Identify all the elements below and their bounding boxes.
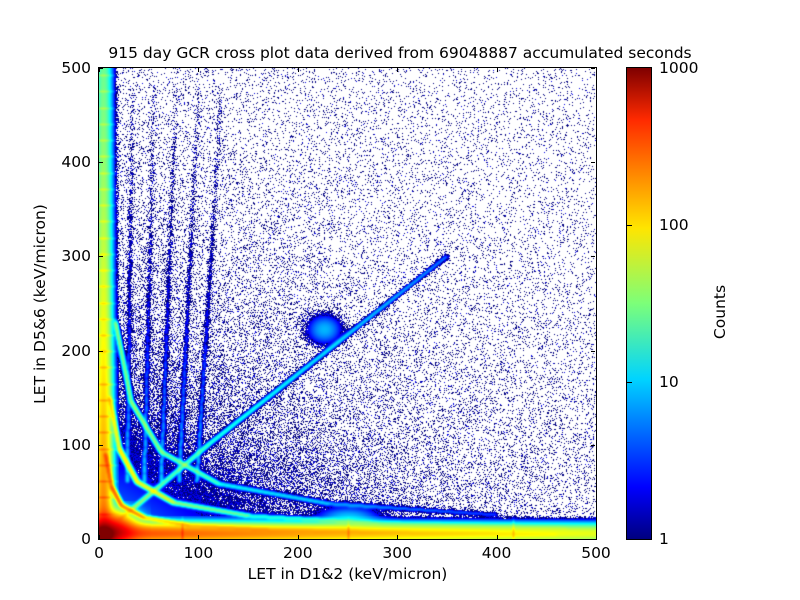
y-tick-right-0 [591, 539, 595, 540]
y-tick-400 [99, 162, 103, 163]
y-tick-label-500: 500 [61, 59, 91, 77]
colorbar-tick-10 [627, 382, 632, 383]
y-tick-0 [99, 539, 103, 540]
y-tick-label-400: 400 [61, 153, 91, 171]
x-tick-500 [596, 535, 597, 539]
x-tick-label-0: 0 [94, 544, 104, 562]
y-tick-label-0: 0 [81, 530, 91, 548]
colorbar-label: Counts [711, 212, 729, 412]
x-tick-400 [497, 535, 498, 539]
y-tick-300 [99, 256, 103, 257]
colorbar-tick-label-100: 100 [659, 216, 689, 234]
y-tick-label-300: 300 [61, 247, 91, 265]
x-tick-200 [298, 535, 299, 539]
plot-area[interactable] [98, 67, 597, 540]
y-tick-200 [99, 351, 103, 352]
colorbar-tick-100 [627, 225, 632, 226]
x-tick-top-200 [298, 68, 299, 72]
x-tick-top-500 [596, 68, 597, 72]
x-tick-300 [397, 535, 398, 539]
figure-canvas: 915 day GCR cross plot data derived from… [0, 0, 800, 600]
x-tick-100 [198, 535, 199, 539]
y-axis-label: LET in D5&6 (keV/micron) [31, 94, 49, 514]
y-tick-right-400 [591, 162, 595, 163]
x-tick-label-400: 400 [482, 544, 512, 562]
colorbar[interactable] [626, 67, 652, 540]
x-tick-top-300 [397, 68, 398, 72]
density-scatter-plot [99, 68, 596, 539]
y-tick-right-300 [591, 256, 595, 257]
y-tick-500 [99, 68, 103, 69]
x-tick-top-100 [198, 68, 199, 72]
x-axis-label: LET in D1&2 (keV/micron) [98, 565, 597, 583]
y-tick-label-100: 100 [61, 436, 91, 454]
x-tick-label-300: 300 [382, 544, 412, 562]
x-tick-top-400 [497, 68, 498, 72]
y-tick-right-500 [591, 68, 595, 69]
x-tick-label-500: 500 [581, 544, 611, 562]
colorbar-gradient [627, 68, 651, 539]
x-tick-label-100: 100 [184, 544, 214, 562]
y-tick-right-100 [591, 445, 595, 446]
y-tick-100 [99, 445, 103, 446]
y-tick-label-200: 200 [61, 342, 91, 360]
colorbar-tick-label-10: 10 [659, 373, 679, 391]
colorbar-tick-label-1: 1 [659, 530, 669, 548]
y-tick-right-200 [591, 351, 595, 352]
x-tick-label-200: 200 [283, 544, 313, 562]
colorbar-tick-label-1000: 1000 [659, 59, 698, 77]
